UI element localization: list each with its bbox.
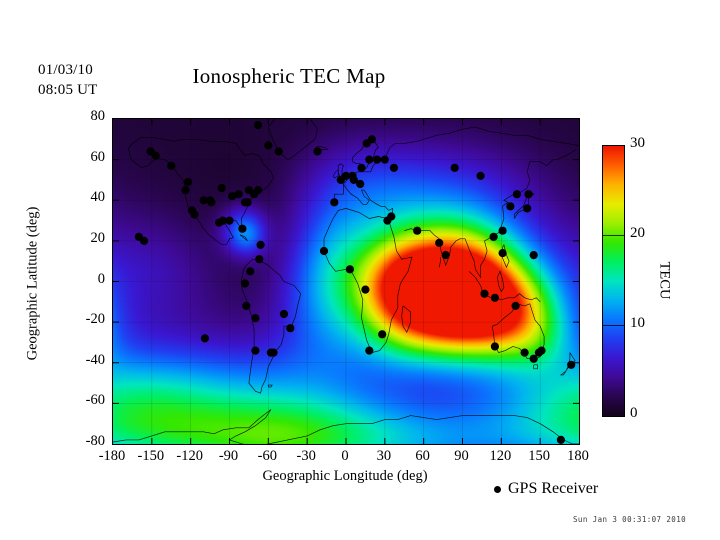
y-tick-0: 0	[57, 271, 105, 288]
gps-receiver-markers	[113, 119, 579, 444]
y-tick-60: 60	[57, 149, 105, 166]
y-axis-label: Geographic Latitude (deg)	[25, 154, 42, 414]
map-plot-area	[112, 118, 580, 445]
page-title: Ionospheric TEC Map	[0, 64, 578, 89]
colorbar-tick-line-20	[602, 235, 625, 236]
legend-label: GPS Receiver	[508, 480, 598, 498]
render-timestamp: Sun Jan 3 00:31:07 2010	[573, 515, 686, 524]
x-tick-180: 180	[548, 448, 608, 465]
y-tick-40: 40	[57, 189, 105, 206]
colorbar-gradient	[603, 146, 624, 416]
colorbar-tick-0: 0	[630, 405, 638, 422]
y-tick--20: -20	[57, 311, 105, 328]
colorbar-tick-20: 20	[630, 225, 645, 242]
tec-map-figure: 01/03/10 08:05 UT Ionospheric TEC Map -1…	[0, 0, 720, 540]
colorbar-tick-line-10	[602, 325, 625, 326]
colorbar	[602, 145, 625, 417]
legend: GPS Receiver	[494, 480, 598, 498]
y-tick--60: -60	[57, 392, 105, 409]
colorbar-tick-10: 10	[630, 315, 645, 332]
colorbar-tick-30: 30	[630, 135, 645, 152]
y-tick--80: -80	[57, 433, 105, 450]
y-tick--40: -40	[57, 352, 105, 369]
y-tick-20: 20	[57, 230, 105, 247]
colorbar-title: TECU	[656, 221, 673, 341]
filled-circle-icon	[494, 486, 501, 493]
y-tick-80: 80	[57, 108, 105, 125]
